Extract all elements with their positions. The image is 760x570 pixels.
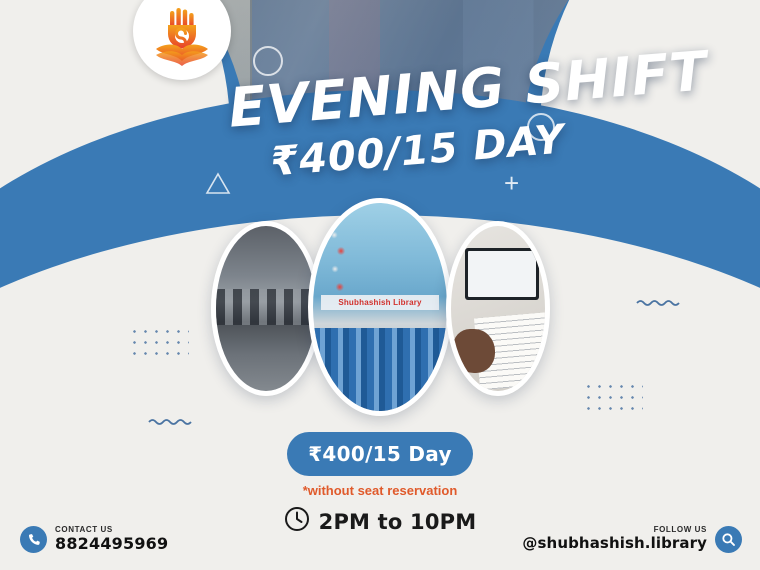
price-cta-button[interactable]: ₹400/15 Day — [287, 432, 473, 476]
contact-phone-number: 8824495969 — [55, 535, 168, 553]
wave-squiggle-icon — [148, 413, 194, 422]
contact-block[interactable]: CONTACT US 8824495969 — [20, 526, 168, 553]
photo-study-hall-interior — [211, 221, 321, 396]
search-icon[interactable] — [715, 526, 742, 553]
photo-library-building-exterior: Shubhashish Library — [308, 198, 452, 416]
social-handle: @shubhashish.library — [522, 535, 707, 552]
clock-icon — [284, 506, 310, 537]
photo-study-desk-with-tablet — [446, 221, 550, 396]
tablet-device — [465, 248, 539, 300]
balloon-arch-decor — [313, 328, 447, 411]
hand-writing — [453, 329, 495, 373]
wave-squiggle-icon — [636, 294, 682, 303]
follow-block[interactable]: FOLLOW US @shubhashish.library — [522, 526, 742, 553]
timing-text: 2PM to 10PM — [319, 510, 477, 534]
phone-icon — [20, 526, 47, 553]
dot-grid-icon — [129, 326, 189, 360]
dot-grid-icon — [583, 381, 643, 415]
building-signage-text: Shubhashish Library — [321, 295, 439, 310]
disclaimer-text: *without seat reservation — [0, 483, 760, 498]
promotional-poster: ATES अधिकतम बैंक राजस्थान सरकार 4/29/202… — [0, 0, 760, 570]
